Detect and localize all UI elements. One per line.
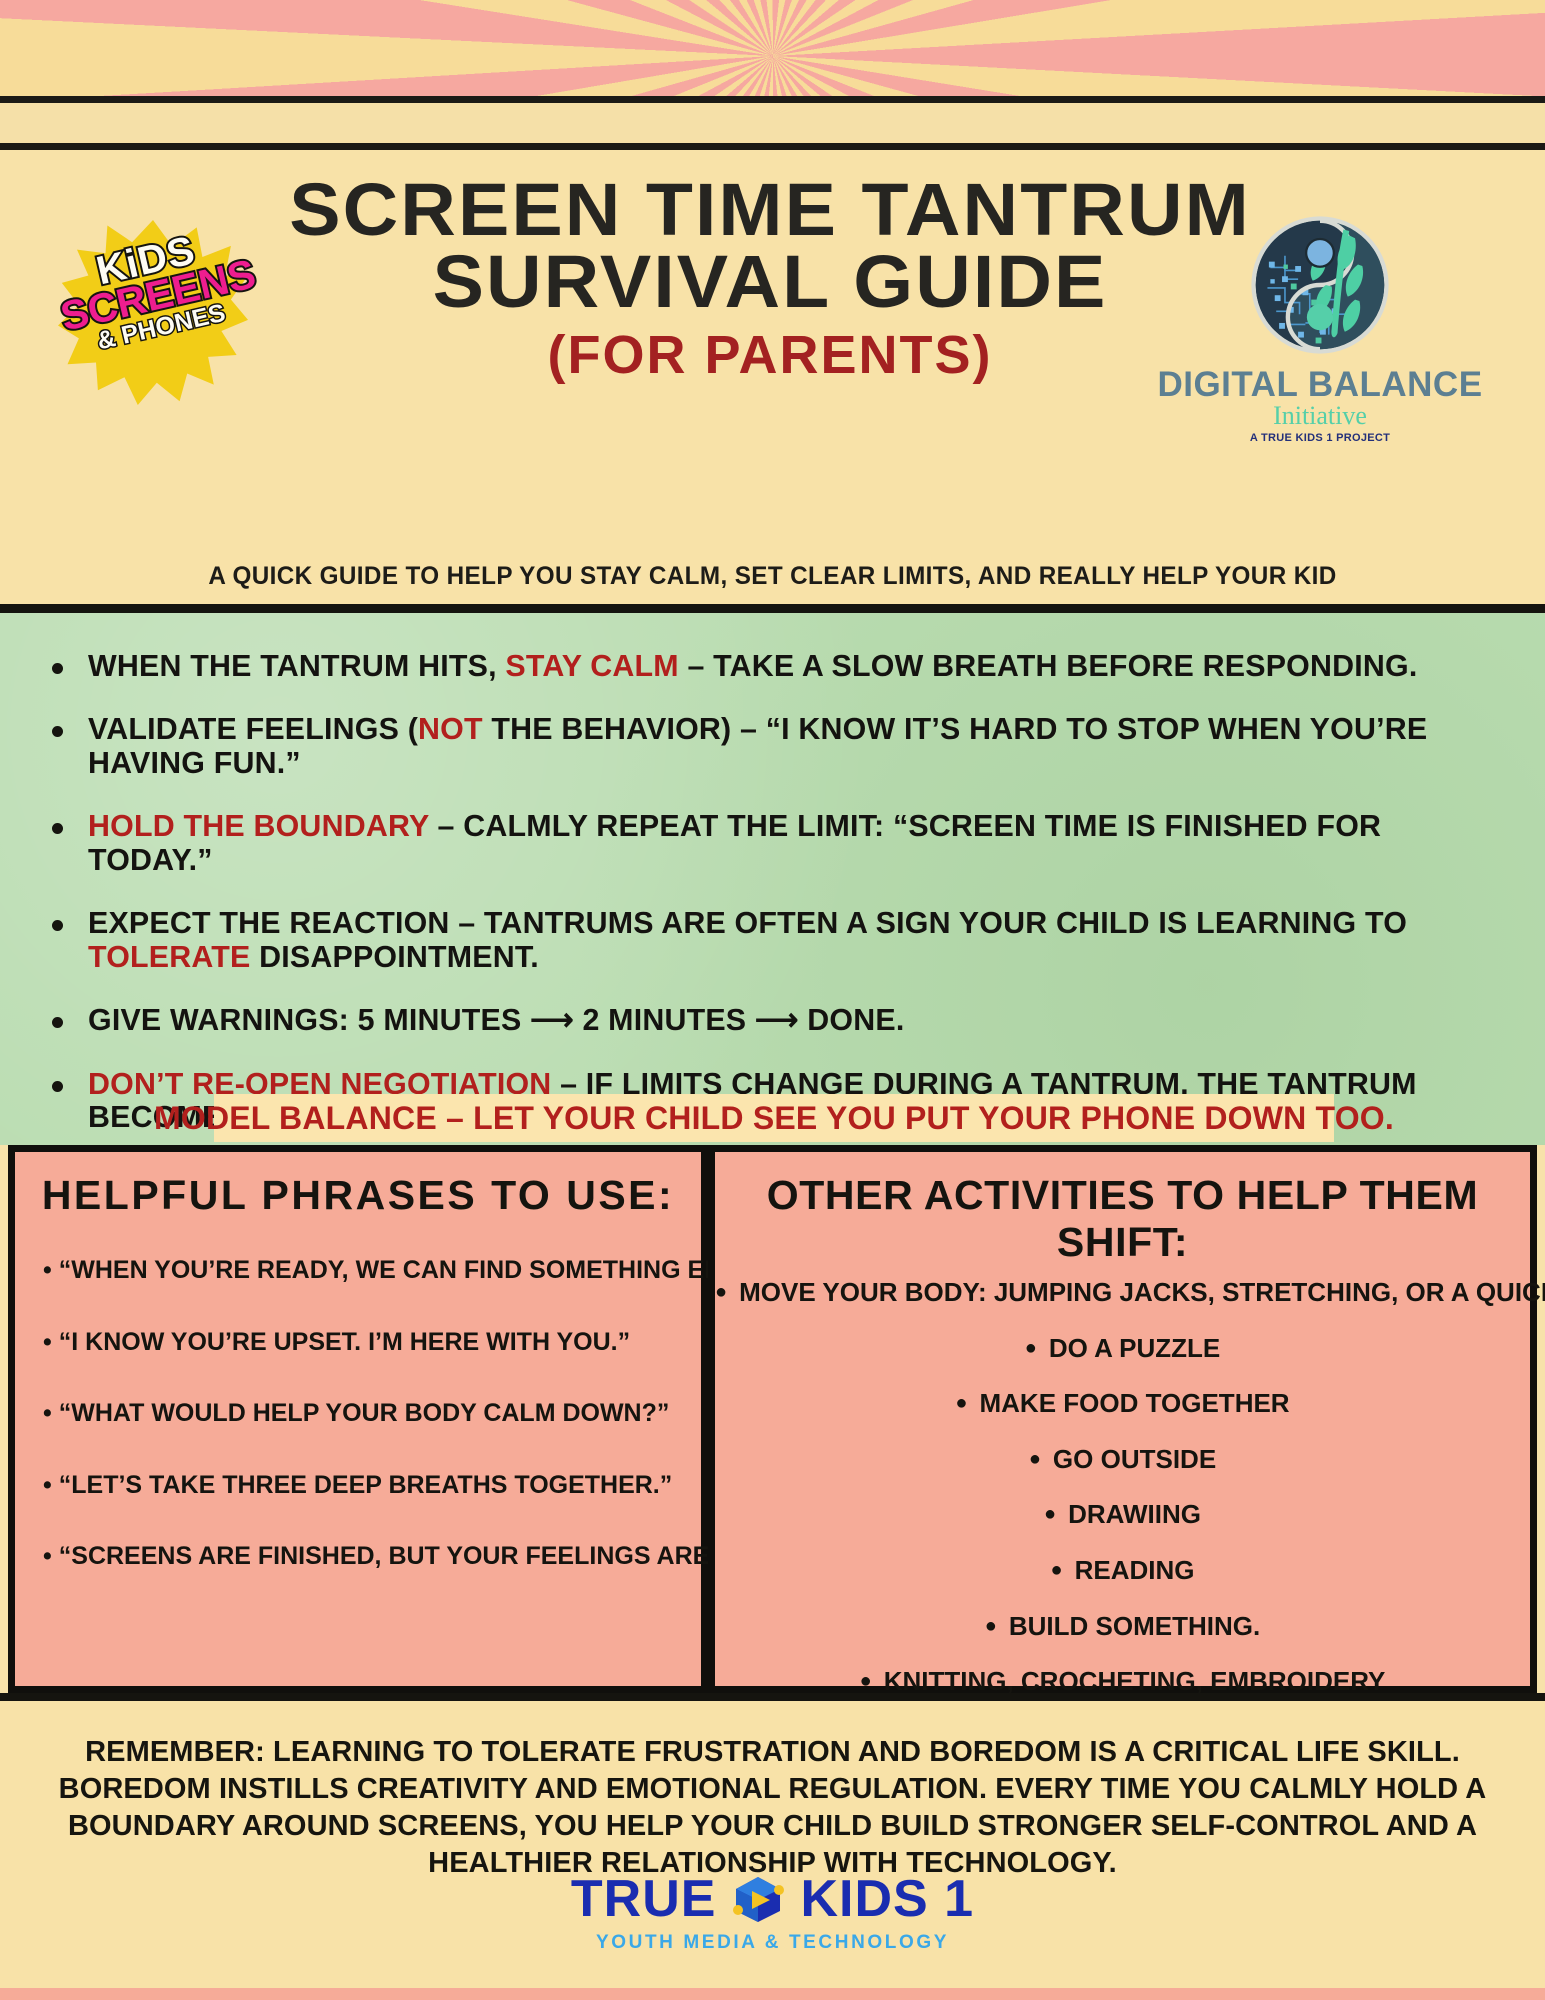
footer-remember-note: REMEMBER: LEARNING TO TOLERATE FRUSTRATI…: [40, 1734, 1505, 1882]
banner-divider-top: [0, 96, 1545, 103]
tip-text-lead: WHEN THE TANTRUM HITS,: [88, 648, 505, 683]
bullet-dot-icon: ●: [1044, 1503, 1056, 1525]
bullet-dot-icon: ●: [1029, 1448, 1041, 1470]
footer-section: REMEMBER: LEARNING TO TOLERATE FRUSTRATI…: [0, 1693, 1545, 2000]
tip-row: VALIDATE FEELINGS (NOT THE BEHAVIOR) – “…: [0, 712, 1545, 779]
true-kids-1-logo: TRUE KIDS 1 YOUTH MEDIA & TECHNOLOGY: [0, 1873, 1545, 1954]
activity-item-label: READING: [1075, 1555, 1195, 1585]
true-kids-1-wordmark-row: TRUE KIDS 1: [571, 1873, 974, 1925]
tip-text-lead: EXPECT THE REACTION – TANTRUMS ARE OFTEN…: [88, 905, 1407, 940]
panels-section: HELPFUL PHRASES TO USE: •“WHEN YOU’RE RE…: [0, 1145, 1545, 1693]
bullet-dot-icon: •: [43, 1399, 52, 1427]
tip-text: WHEN THE TANTRUM HITS, STAY CALM – TAKE …: [88, 649, 1417, 682]
phrase-item: •“I KNOW YOU’RE UPSET. I’M HERE WITH YOU…: [43, 1329, 687, 1357]
tip-row: GIVE WARNINGS: 5 MINUTES ⟶ 2 MINUTES ⟶ D…: [0, 1003, 1545, 1036]
banner-gap: [0, 103, 1545, 143]
true-kids-1-word-true: TRUE: [571, 1873, 717, 1925]
activity-item-label: KNITTING, CROCHETING, EMBROIDERY: [884, 1666, 1386, 1696]
model-balance-text: MODEL BALANCE – LET YOUR CHILD SEE YOU P…: [154, 1100, 1394, 1137]
yin-yang-circuit-leaf-icon: [1247, 212, 1393, 358]
cube-play-icon: [730, 1873, 786, 1925]
true-kids-1-tagline: YOUTH MEDIA & TECHNOLOGY: [0, 1932, 1545, 1954]
tip-text: HOLD THE BOUNDARY – CALMLY REPEAT THE LI…: [88, 809, 1471, 876]
bullet-dot-icon: [52, 663, 63, 674]
tips-section: WHEN THE TANTRUM HITS, STAY CALM – TAKE …: [0, 613, 1545, 1145]
bullet-dot-icon: [52, 1017, 63, 1028]
bottom-strip: [0, 1988, 1545, 2000]
header-tagline: A QUICK GUIDE TO HELP YOU STAY CALM, SET…: [23, 562, 1522, 591]
bullet-dot-icon: •: [43, 1471, 52, 1499]
activity-item-label: MAKE FOOD TOGETHER: [980, 1388, 1290, 1418]
tip-text: VALIDATE FEELINGS (NOT THE BEHAVIOR) – “…: [88, 712, 1471, 779]
other-activities-list: ●MOVE YOUR BODY: JUMPING JACKS, STRETCHI…: [715, 1278, 1530, 1696]
bullet-dot-icon: ●: [860, 1670, 872, 1692]
digital-balance-name: DIGITAL BALANCE: [1140, 367, 1500, 402]
bullet-dot-icon: ●: [1051, 1559, 1063, 1581]
phrase-item-label: “WHAT WOULD HELP YOUR BODY CALM DOWN?”: [59, 1399, 670, 1427]
bullet-dot-icon: ●: [715, 1281, 727, 1303]
sunburst-banner: [0, 0, 1545, 96]
helpful-phrases-list: •“WHEN YOU’RE READY, WE CAN FIND SOMETHI…: [15, 1257, 701, 1571]
bullet-dot-icon: [52, 1081, 63, 1092]
phrase-item-label: “I KNOW YOU’RE UPSET. I’M HERE WITH YOU.…: [59, 1328, 630, 1356]
phrase-item: •“LET’S TAKE THREE DEEP BREATHS TOGETHER…: [43, 1472, 687, 1500]
phrase-item: •“WHAT WOULD HELP YOUR BODY CALM DOWN?”: [43, 1400, 687, 1428]
tip-row: EXPECT THE REACTION – TANTRUMS ARE OFTEN…: [0, 906, 1545, 973]
tip-text: GIVE WARNINGS: 5 MINUTES ⟶ 2 MINUTES ⟶ D…: [88, 1003, 904, 1036]
activity-item-label: MOVE YOUR BODY: JUMPING JACKS, STRETCHIN…: [739, 1277, 1545, 1307]
footer-divider: [0, 1693, 1545, 1701]
activity-item-label: BUILD SOMETHING.: [1009, 1611, 1260, 1641]
tip-text-highlight: NOT: [418, 711, 483, 746]
activity-item: ●DRAWIING: [715, 1500, 1530, 1529]
bullet-dot-icon: •: [43, 1542, 52, 1570]
sunburst-rays: [0, 0, 1545, 96]
bullet-dot-icon: ●: [955, 1392, 967, 1414]
other-activities-title: OTHER ACTIVITIES TO HELP THEM SHIFT:: [715, 1172, 1530, 1266]
bullet-dot-icon: [52, 920, 63, 931]
bullet-dot-icon: ●: [985, 1615, 997, 1637]
activity-item: ●DO A PUZZLE: [715, 1334, 1530, 1363]
activity-item: ●MAKE FOOD TOGETHER: [715, 1389, 1530, 1418]
activity-item: ●KNITTING, CROCHETING, EMBROIDERY: [715, 1667, 1530, 1696]
activity-item: ●READING: [715, 1556, 1530, 1585]
activity-item-label: GO OUTSIDE: [1053, 1444, 1216, 1474]
header-section: KiDS SCREENS & PHONES SCREEN TIME TANTRU…: [0, 150, 1545, 604]
activity-item: ●BUILD SOMETHING.: [715, 1612, 1530, 1641]
digital-balance-project-line: A TRUE KIDS 1 PROJECT: [1140, 432, 1500, 444]
true-kids-1-word-kids: KIDS 1: [800, 1873, 974, 1925]
bullet-dot-icon: •: [43, 1256, 52, 1284]
tip-row: WHEN THE TANTRUM HITS, STAY CALM – TAKE …: [0, 649, 1545, 682]
phrase-item: •“WHEN YOU’RE READY, WE CAN FIND SOMETHI…: [43, 1257, 687, 1285]
tip-text-tail: DISAPPOINTMENT.: [250, 939, 538, 974]
infographic-page: KiDS SCREENS & PHONES SCREEN TIME TANTRU…: [0, 0, 1545, 2000]
phrase-item: •“SCREENS ARE FINISHED, BUT YOUR FEELING…: [43, 1543, 687, 1571]
tip-text-tail: – TAKE A SLOW BREATH BEFORE RESPONDING.: [679, 648, 1418, 683]
tip-text-lead: VALIDATE FEELINGS (: [88, 711, 418, 746]
other-activities-panel: OTHER ACTIVITIES TO HELP THEM SHIFT: ●MO…: [708, 1145, 1537, 1693]
helpful-phrases-panel: HELPFUL PHRASES TO USE: •“WHEN YOU’RE RE…: [8, 1145, 708, 1693]
tip-row: HOLD THE BOUNDARY – CALMLY REPEAT THE LI…: [0, 809, 1545, 876]
bullet-dot-icon: [52, 823, 63, 834]
bullet-dot-icon: •: [43, 1328, 52, 1356]
helpful-phrases-title: HELPFUL PHRASES TO USE:: [15, 1172, 701, 1219]
activity-item-label: DRAWIING: [1068, 1499, 1201, 1529]
tip-text-lead: GIVE WARNINGS: 5 MINUTES ⟶ 2 MINUTES ⟶ D…: [88, 1002, 904, 1037]
activity-item: ●GO OUTSIDE: [715, 1445, 1530, 1474]
tip-text-highlight: STAY CALM: [505, 648, 678, 683]
tip-text-highlight: TOLERATE: [88, 939, 250, 974]
model-balance-callout: MODEL BALANCE – LET YOUR CHILD SEE YOU P…: [214, 1094, 1334, 1142]
digital-balance-logo: DIGITAL BALANCE Initiative A TRUE KIDS 1…: [1140, 212, 1500, 444]
activity-item-label: DO A PUZZLE: [1049, 1333, 1220, 1363]
phrase-item-label: “SCREENS ARE FINISHED, BUT YOUR FEELINGS…: [59, 1542, 803, 1570]
banner-divider-bottom: [0, 143, 1545, 150]
phrase-item-label: “LET’S TAKE THREE DEEP BREATHS TOGETHER.…: [59, 1471, 673, 1499]
digital-balance-initiative: Initiative: [1140, 403, 1500, 429]
activity-item: ●MOVE YOUR BODY: JUMPING JACKS, STRETCHI…: [715, 1278, 1530, 1307]
bullet-dot-icon: ●: [1025, 1337, 1037, 1359]
tip-text-highlight: HOLD THE BOUNDARY: [88, 808, 429, 843]
tip-text: EXPECT THE REACTION – TANTRUMS ARE OFTEN…: [88, 906, 1471, 973]
bullet-dot-icon: [52, 726, 63, 737]
header-divider: [0, 604, 1545, 613]
